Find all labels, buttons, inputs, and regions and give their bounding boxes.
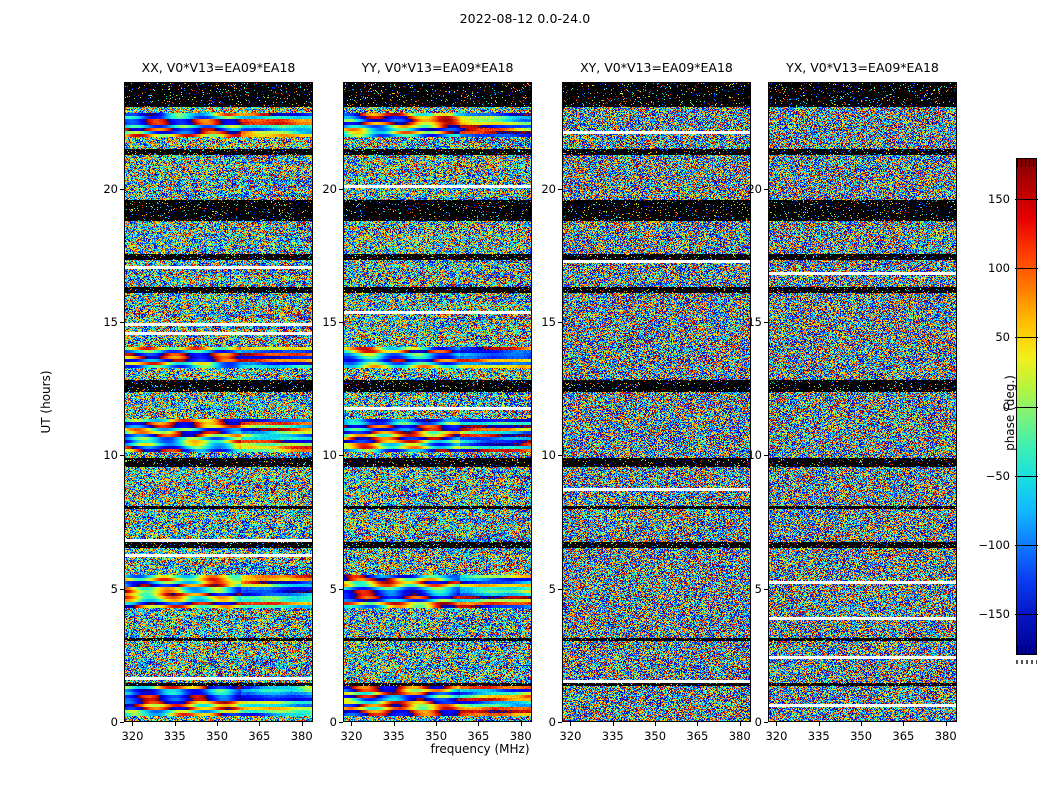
x-tick-mark (819, 722, 820, 726)
y-tick-mark (558, 455, 562, 456)
colorbar[interactable]: 150100500−50−100−150 phase (deg.) (1016, 158, 1037, 655)
x-tick-mark (394, 722, 395, 726)
colorbar-tick-label: 100 (988, 261, 1010, 275)
y-tick-label: 10 (309, 448, 337, 462)
y-tick-mark (764, 589, 768, 590)
x-tick-label: 320 (121, 729, 143, 743)
x-tick-label: 380 (510, 729, 532, 743)
x-tick-label: 350 (425, 729, 447, 743)
colorbar-under-hatch (1017, 646, 1036, 654)
y-tick-mark (120, 322, 124, 323)
panel-title-yx: YX, V0*V13=EA09*EA18 (728, 60, 997, 75)
figure-canvas: 2022-08-12 0.0-24.0 XX, V0*V13=EA09*EA18… (0, 0, 1050, 800)
y-tick-label: 10 (90, 448, 118, 462)
colorbar-tick-label: −100 (978, 538, 1010, 552)
x-tick-label: 380 (291, 729, 313, 743)
y-tick-label: 0 (528, 715, 556, 729)
colorbar-tick-label: 150 (988, 192, 1010, 206)
colorbar-tick-label: −50 (986, 469, 1010, 483)
x-tick-label: 320 (765, 729, 787, 743)
y-tick-label: 10 (734, 448, 762, 462)
y-tick-label: 15 (734, 315, 762, 329)
y-tick-label: 20 (734, 182, 762, 196)
colorbar-tick-mark (1015, 337, 1038, 338)
y-tick-label: 10 (528, 448, 556, 462)
colorbar-tick-mark (1015, 614, 1038, 615)
colorbar-tick-label: −150 (978, 607, 1010, 621)
phase-waterfall-image (344, 83, 531, 721)
x-tick-label: 365 (248, 729, 270, 743)
y-tick-mark (764, 722, 768, 723)
colorbar-footer-dots (1016, 660, 1037, 664)
y-tick-mark (764, 189, 768, 190)
colorbar-tick-mark (1015, 407, 1038, 408)
panel-xx[interactable]: XX, V0*V13=EA09*EA18 (124, 82, 313, 722)
phase-waterfall-image (125, 83, 312, 721)
x-tick-label: 350 (644, 729, 666, 743)
y-tick-label: 5 (90, 582, 118, 596)
x-tick-mark (351, 722, 352, 726)
x-tick-label: 365 (686, 729, 708, 743)
x-tick-mark (861, 722, 862, 726)
x-tick-mark (655, 722, 656, 726)
y-tick-label: 0 (90, 715, 118, 729)
y-tick-label: 20 (528, 182, 556, 196)
y-tick-mark (120, 722, 124, 723)
phase-waterfall-image (769, 83, 956, 721)
y-tick-label: 20 (309, 182, 337, 196)
panel-xy[interactable]: XY, V0*V13=EA09*EA18 (562, 82, 751, 722)
x-tick-mark (570, 722, 571, 726)
x-tick-label: 335 (602, 729, 624, 743)
colorbar-label: phase (deg.) (1003, 375, 1017, 451)
x-tick-mark (259, 722, 260, 726)
x-tick-label: 365 (467, 729, 489, 743)
x-tick-label: 335 (383, 729, 405, 743)
colorbar-tick-mark (1015, 545, 1038, 546)
y-tick-label: 5 (528, 582, 556, 596)
y-tick-mark (339, 722, 343, 723)
y-tick-mark (558, 322, 562, 323)
colorbar-tick-label: 50 (995, 330, 1010, 344)
y-tick-label: 20 (90, 182, 118, 196)
y-tick-mark (120, 455, 124, 456)
x-tick-mark (436, 722, 437, 726)
y-tick-mark (339, 589, 343, 590)
x-tick-label: 335 (808, 729, 830, 743)
panel-yx[interactable]: YX, V0*V13=EA09*EA18 (768, 82, 957, 722)
x-tick-label: 365 (892, 729, 914, 743)
y-tick-mark (120, 589, 124, 590)
y-tick-mark (558, 589, 562, 590)
colorbar-over-hatch (1017, 159, 1036, 167)
x-tick-label: 380 (729, 729, 751, 743)
x-tick-label: 380 (935, 729, 957, 743)
x-tick-mark (478, 722, 479, 726)
x-tick-label: 320 (340, 729, 362, 743)
y-tick-label: 5 (734, 582, 762, 596)
x-tick-mark (613, 722, 614, 726)
phase-waterfall-image (563, 83, 750, 721)
x-tick-mark (132, 722, 133, 726)
y-tick-mark (339, 189, 343, 190)
y-tick-mark (764, 322, 768, 323)
y-tick-label: 15 (309, 315, 337, 329)
x-tick-mark (521, 722, 522, 726)
x-tick-mark (217, 722, 218, 726)
y-tick-label: 15 (528, 315, 556, 329)
x-tick-mark (697, 722, 698, 726)
y-axis-label: UT (hours) (39, 342, 53, 462)
x-tick-label: 350 (850, 729, 872, 743)
x-axis-label: frequency (MHz) (380, 742, 580, 756)
x-tick-label: 350 (206, 729, 228, 743)
x-tick-mark (946, 722, 947, 726)
colorbar-tick-mark (1015, 476, 1038, 477)
y-tick-label: 0 (309, 715, 337, 729)
y-tick-label: 15 (90, 315, 118, 329)
y-tick-mark (558, 722, 562, 723)
y-tick-label: 0 (734, 715, 762, 729)
colorbar-tick-mark (1015, 199, 1038, 200)
y-tick-label: 5 (309, 582, 337, 596)
x-tick-mark (776, 722, 777, 726)
colorbar-tick-mark (1015, 268, 1038, 269)
x-tick-mark (903, 722, 904, 726)
x-tick-mark (302, 722, 303, 726)
y-tick-mark (558, 189, 562, 190)
y-tick-mark (339, 455, 343, 456)
y-tick-mark (120, 189, 124, 190)
x-tick-label: 335 (164, 729, 186, 743)
x-tick-label: 320 (559, 729, 581, 743)
x-tick-mark (175, 722, 176, 726)
y-tick-mark (764, 455, 768, 456)
figure-suptitle: 2022-08-12 0.0-24.0 (0, 11, 1050, 26)
y-tick-mark (339, 322, 343, 323)
panel-yy[interactable]: YY, V0*V13=EA09*EA18 (343, 82, 532, 722)
